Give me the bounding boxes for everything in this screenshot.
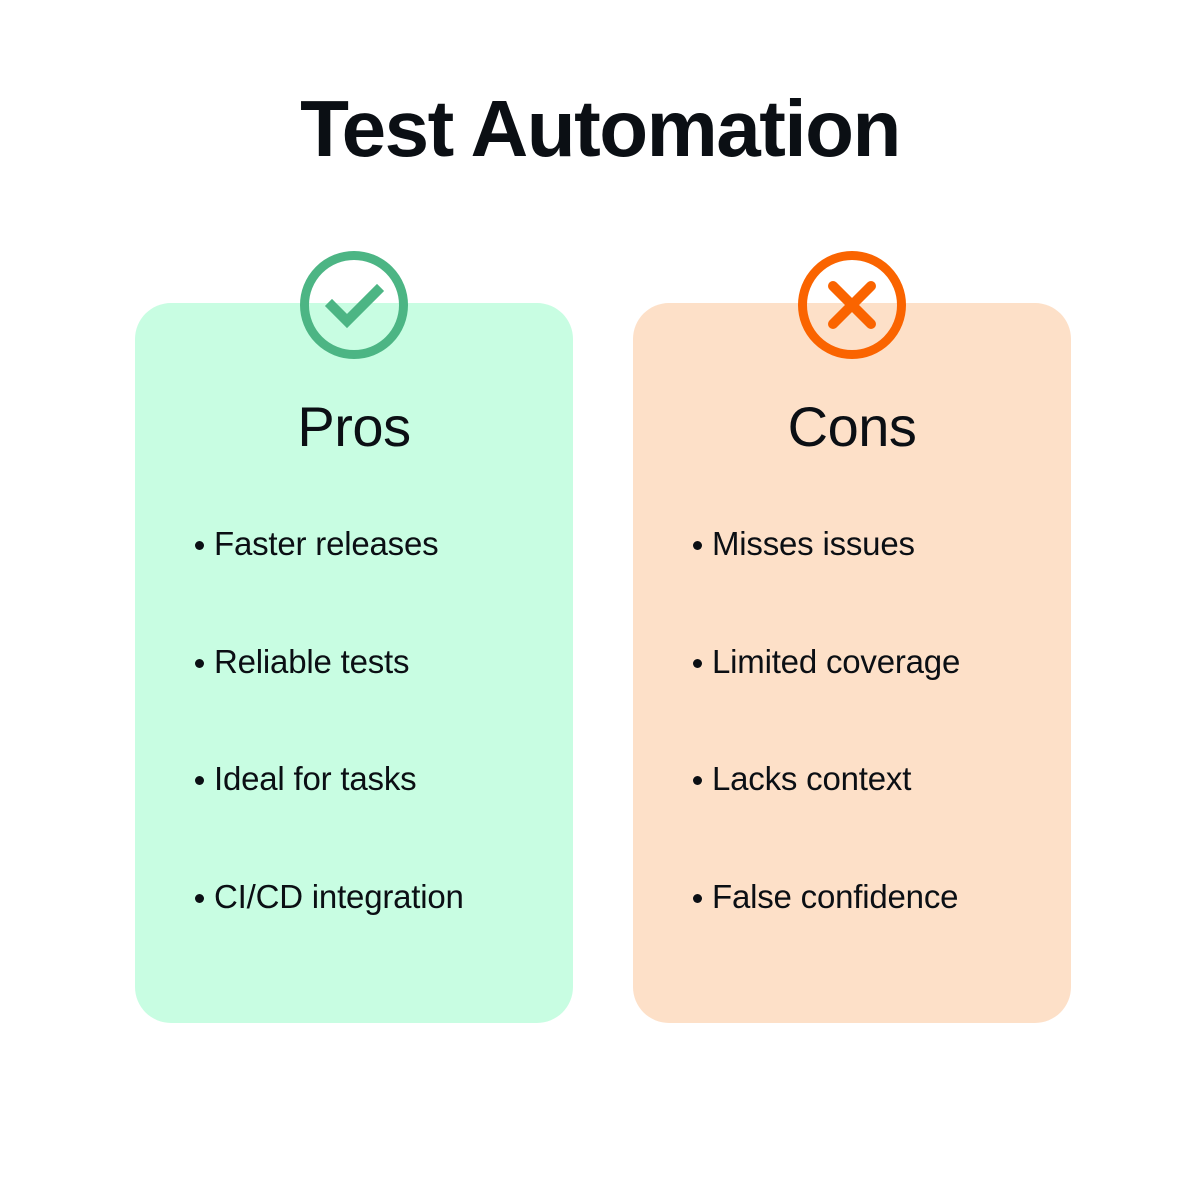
list-item: CI/CD integration [135, 877, 573, 995]
list-item: Faster releases [135, 524, 573, 642]
bullet-dot-icon [693, 894, 702, 903]
list-item-label: Ideal for tasks [214, 759, 416, 799]
list-item-label: Limited coverage [712, 642, 960, 682]
comparison-columns: Pros Faster releases Reliable tests Idea… [0, 0, 1200, 1200]
list-item-label: CI/CD integration [214, 877, 464, 917]
bullet-dot-icon [693, 659, 702, 668]
bullet-dot-icon [693, 541, 702, 550]
list-item-label: Misses issues [712, 524, 915, 564]
list-item-label: Faster releases [214, 524, 438, 564]
cons-heading: Cons [633, 396, 1071, 458]
bullet-dot-icon [693, 776, 702, 785]
list-item-label: Reliable tests [214, 642, 409, 682]
x-circle-icon [797, 250, 907, 360]
pros-list: Faster releases Reliable tests Ideal for… [135, 524, 573, 994]
list-item-label: Lacks context [712, 759, 911, 799]
list-item: Reliable tests [135, 642, 573, 760]
column-pros: Pros Faster releases Reliable tests Idea… [135, 303, 573, 1023]
list-item-label: False confidence [712, 877, 958, 917]
bullet-dot-icon [195, 894, 204, 903]
list-item: Lacks context [633, 759, 1071, 877]
check-circle-icon [299, 250, 409, 360]
bullet-dot-icon [195, 541, 204, 550]
list-item: Limited coverage [633, 642, 1071, 760]
bullet-dot-icon [195, 659, 204, 668]
list-item: False confidence [633, 877, 1071, 995]
infographic-canvas: Test Automation Pros Faster releases Re [0, 0, 1200, 1200]
pros-heading: Pros [135, 396, 573, 458]
list-item: Misses issues [633, 524, 1071, 642]
cons-list: Misses issues Limited coverage Lacks con… [633, 524, 1071, 994]
list-item: Ideal for tasks [135, 759, 573, 877]
bullet-dot-icon [195, 776, 204, 785]
column-cons: Cons Misses issues Limited coverage Lack… [633, 303, 1071, 1023]
